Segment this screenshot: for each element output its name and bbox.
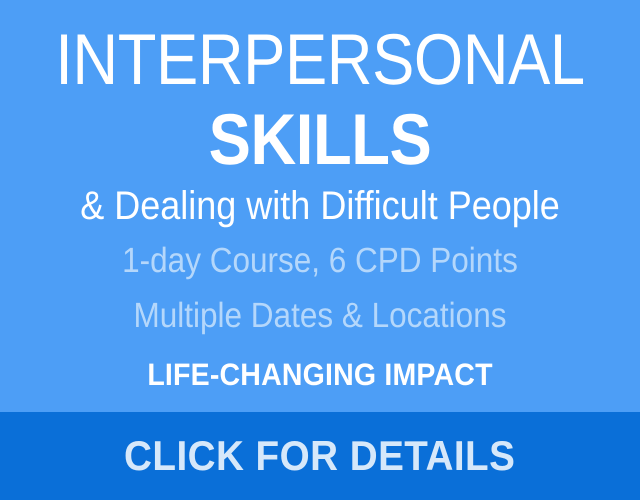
banner-content: INTERPERSONAL SKILLS & Dealing with Diff…	[0, 0, 640, 412]
click-for-details-button[interactable]: CLICK FOR DETAILS	[0, 412, 640, 500]
banner-subtitle: & Dealing with Difficult People	[32, 186, 608, 226]
headline-line-1: INTERPERSONAL	[38, 24, 601, 96]
banner-detail-course-info: 1-day Course, 6 CPD Points	[32, 243, 608, 278]
advertisement-banner[interactable]: INTERPERSONAL SKILLS & Dealing with Diff…	[0, 0, 640, 500]
banner-tagline: LIFE-CHANGING IMPACT	[26, 359, 615, 390]
cta-button-label: CLICK FOR DETAILS	[124, 435, 515, 477]
banner-detail-dates-locations: Multiple Dates & Locations	[32, 298, 608, 333]
headline-line-2: SKILLS	[38, 104, 601, 176]
